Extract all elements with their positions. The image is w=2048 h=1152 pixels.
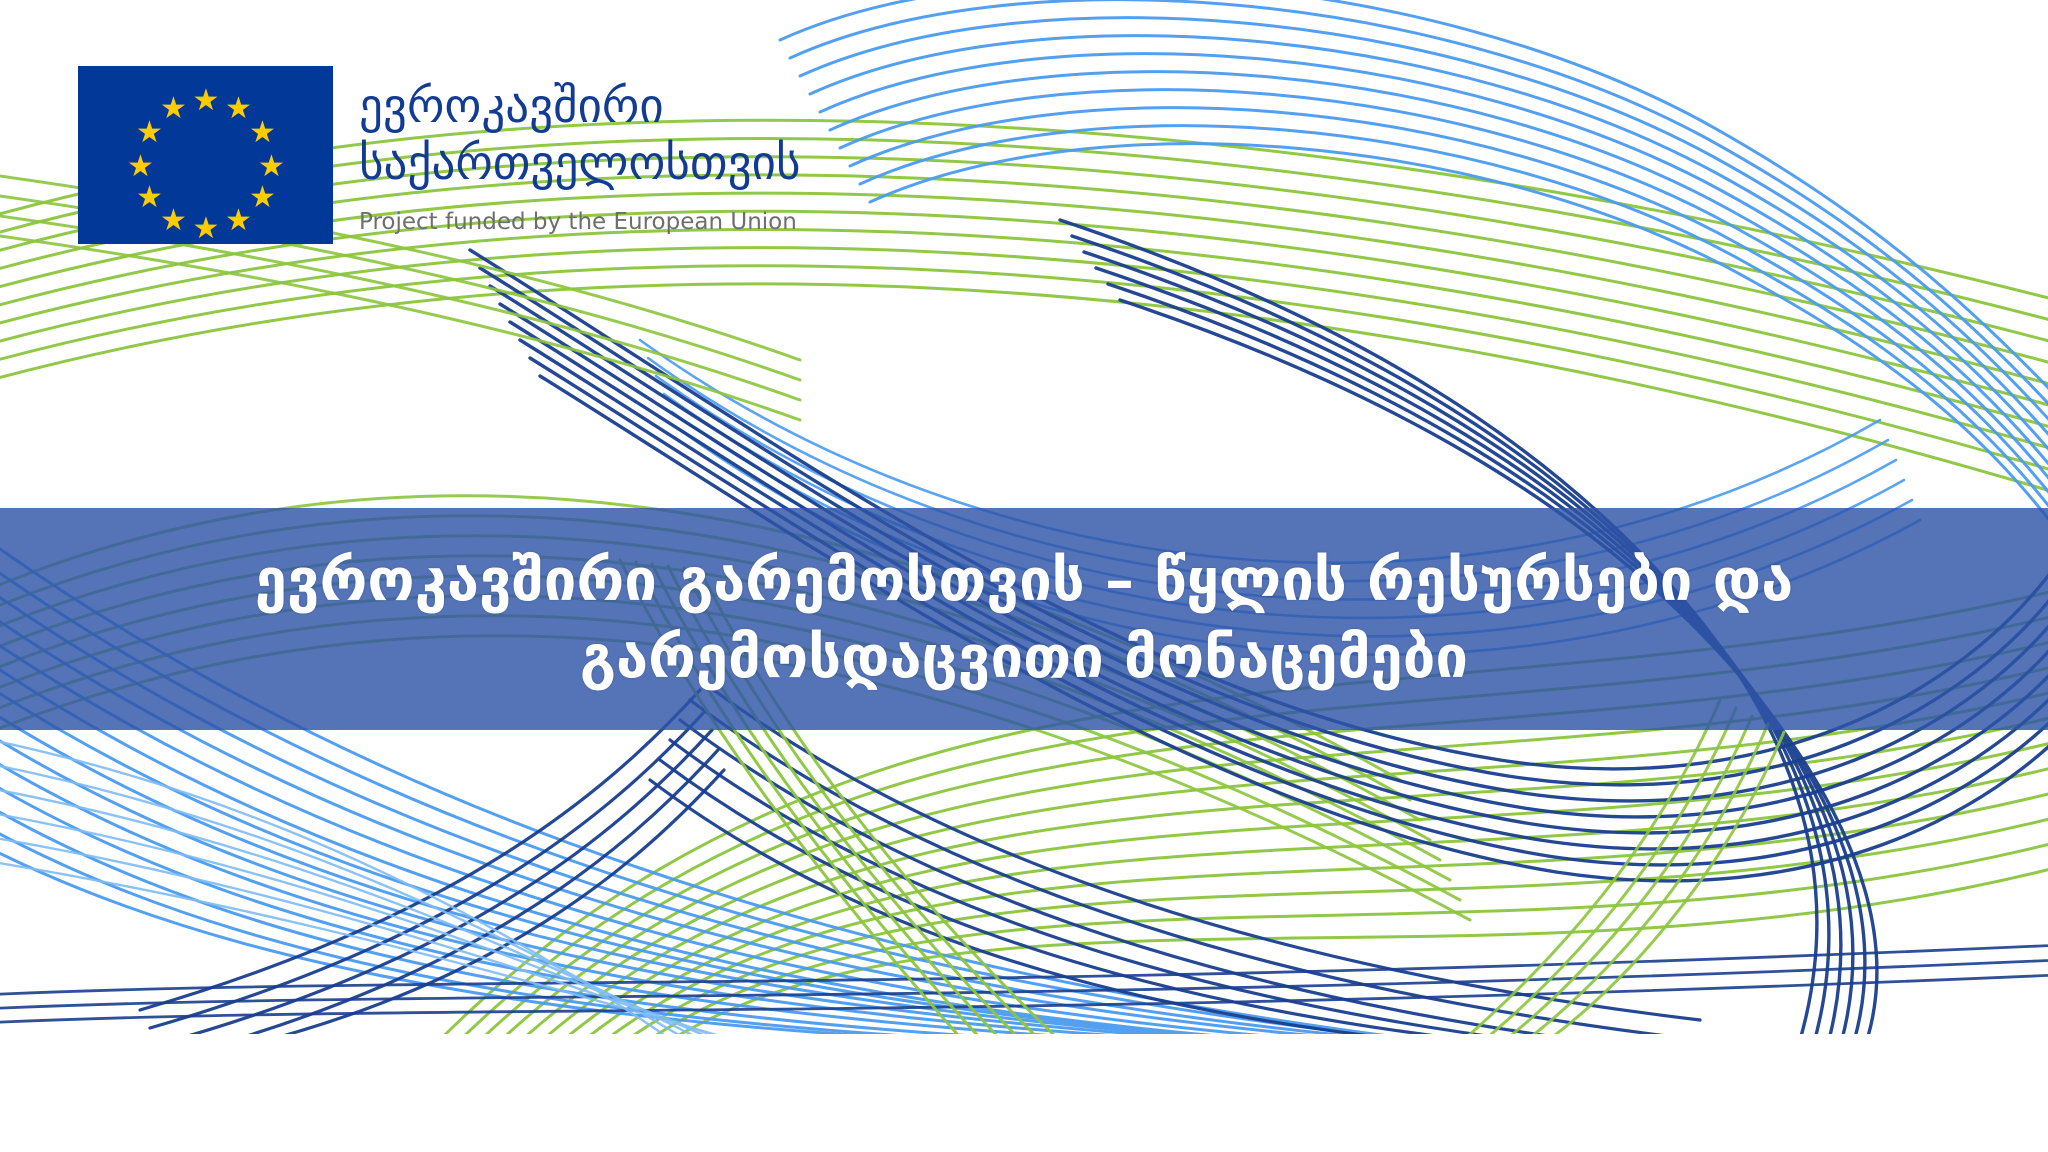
title-banner: ევროკავშირი გარემოსთვის – წყლის რესურსებ… xyxy=(0,508,2048,730)
title-line-1: ევროკავშირი გარემოსთვის – წყლის რესურსებ… xyxy=(255,542,1793,619)
eu-title-line-2: საქართველოსთვის xyxy=(359,135,801,192)
eu-star-icon: ★ xyxy=(225,208,251,234)
eu-star-icon: ★ xyxy=(160,96,186,122)
eu-star-icon: ★ xyxy=(193,216,219,242)
eu-funding-logo: ★ ★ ★ ★ ★ ★ ★ ★ ★ ★ ★ ★ ევროკავშირი საქა… xyxy=(78,66,801,244)
eu-star-icon: ★ xyxy=(160,208,186,234)
eu-star-icon: ★ xyxy=(193,88,219,114)
page-title: ევროკავშირი გარემოსთვის – წყლის რესურსებ… xyxy=(165,542,1883,695)
eu-star-icon: ★ xyxy=(225,96,251,122)
eu-star-icon: ★ xyxy=(249,185,275,211)
eu-star-icon: ★ xyxy=(258,154,284,180)
eu-title-line-1: ევროკავშირი xyxy=(359,78,801,135)
title-line-2: გარემოსდაცვითი მონაცემები xyxy=(255,619,1793,696)
eu-logo-text: ევროკავშირი საქართველოსთვის Project fund… xyxy=(359,66,801,235)
eu-funding-subtitle: Project funded by the European Union xyxy=(359,209,801,235)
eu-star-icon: ★ xyxy=(127,154,153,180)
eu-flag-icon: ★ ★ ★ ★ ★ ★ ★ ★ ★ ★ ★ ★ xyxy=(78,66,333,244)
footer-logo-strip xyxy=(0,1034,2048,1152)
eu-star-icon: ★ xyxy=(136,120,162,146)
eu-star-icon: ★ xyxy=(249,120,275,146)
presentation-slide: ★ ★ ★ ★ ★ ★ ★ ★ ★ ★ ★ ★ ევროკავშირი საქა… xyxy=(0,0,2048,1152)
eu-star-icon: ★ xyxy=(136,185,162,211)
